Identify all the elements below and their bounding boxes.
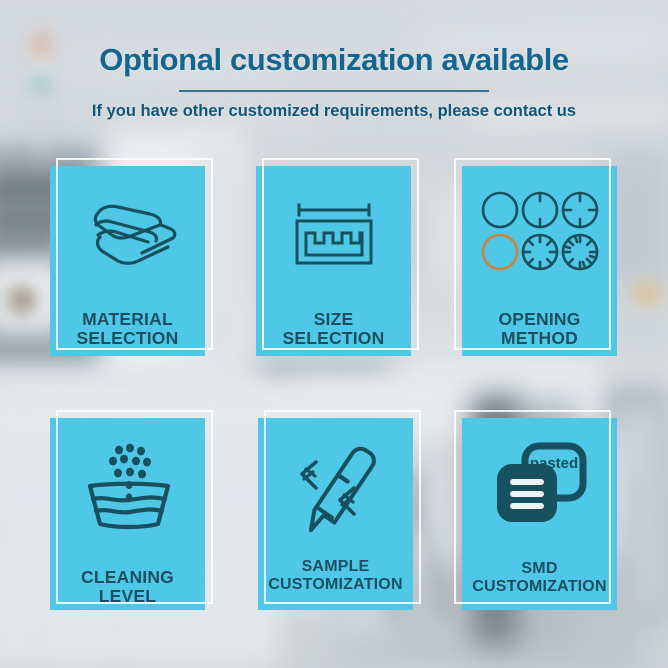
card-material-selection[interactable]: MATERIAL SELECTION [50, 166, 205, 356]
pasted-card-icon: pasted [462, 438, 617, 534]
card-label: SAMPLE CUSTOMIZATION [258, 558, 413, 593]
card-sample-customization[interactable]: SAMPLE CUSTOMIZATION [258, 418, 413, 610]
card-size-selection[interactable]: SIZE SELECTION [256, 166, 411, 356]
feature-card-grid: MATERIAL SELECTION SIZE SELECTION [0, 0, 668, 668]
promo-banner: Optional customization available If you … [0, 0, 668, 668]
pasted-badge-text: pasted [529, 455, 577, 472]
card-label: CLEANING LEVEL [50, 568, 205, 607]
card-label: SMD CUSTOMIZATION [462, 560, 617, 595]
circle-notch-grid-icon [462, 184, 617, 280]
card-opening-method[interactable]: OPENING METHOD [462, 166, 617, 356]
wash-basin-icon [50, 438, 205, 534]
card-label: MATERIAL SELECTION [50, 310, 205, 349]
card-cleaning-level[interactable]: CLEANING LEVEL [50, 418, 205, 610]
fabric-stack-icon [50, 192, 205, 278]
card-smd-customization[interactable]: pasted SMD CUSTOMIZATION [462, 418, 617, 610]
pencil-ruler-icon [258, 436, 413, 536]
card-label: OPENING METHOD [462, 310, 617, 349]
ruler-measure-icon [256, 192, 411, 278]
card-label: SIZE SELECTION [256, 310, 411, 349]
